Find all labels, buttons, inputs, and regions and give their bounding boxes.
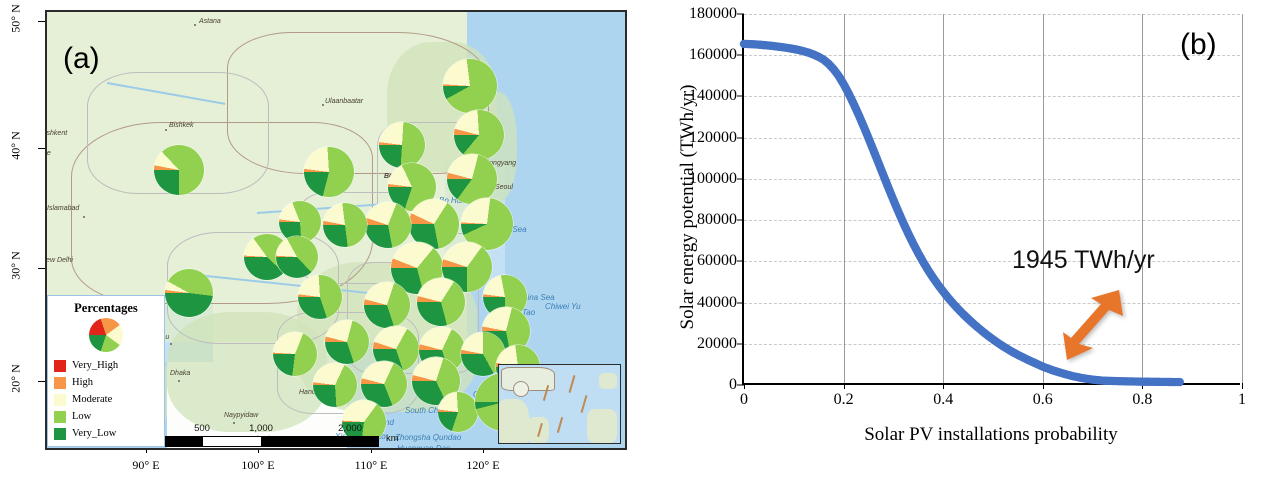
y-tick-label: 120000 <box>689 129 737 147</box>
city-label: Naypyidaw <box>224 412 258 419</box>
lon-tick-label: 120° E <box>453 458 513 473</box>
x-tick-label: 0.4 <box>933 391 953 409</box>
y-tick-mark <box>737 14 744 15</box>
scale-tick-label: 1,000 <box>249 423 273 434</box>
legend-label: Low <box>72 411 91 422</box>
pie-hongkong[interactable] <box>438 392 478 432</box>
legend-label: Very_High <box>72 360 118 371</box>
city-dot <box>83 216 85 218</box>
legend-swatch <box>54 360 66 372</box>
legend-label: Very_Low <box>72 428 116 439</box>
pie-jilin[interactable] <box>454 110 504 160</box>
legend-title: Percentages <box>54 301 158 316</box>
lon-tick-label: 100° E <box>228 458 288 473</box>
y-tick-label: 160000 <box>689 46 737 64</box>
lat-tick-label: 40° N <box>9 124 24 168</box>
scale-tick-label: 500 <box>194 423 210 434</box>
pie-shanxi[interactable] <box>365 202 411 248</box>
lat-tick-mark <box>38 21 45 22</box>
panel-a-map: 50° N 40° N 30° N 20° N 90° E 100° E 110… <box>0 0 632 492</box>
lon-tick-label: 90° E <box>116 458 176 473</box>
legend-items: Very_HighHighModerateLowVery_Low <box>54 357 158 442</box>
panel-a-letter: (a) <box>63 42 100 76</box>
pie-sichuan[interactable] <box>298 275 342 319</box>
pie-chongqing[interactable] <box>325 320 369 364</box>
y-tick-label: 140000 <box>689 87 737 105</box>
city-label: Astana <box>199 18 221 25</box>
y-tick-mark <box>737 55 744 56</box>
legend-swatch <box>54 377 66 389</box>
y-tick-mark <box>737 96 744 97</box>
annotation-label: 1945 TWh/yr <box>1012 246 1155 275</box>
panel-b-letter: (b) <box>1180 28 1217 62</box>
sea-label: Zhongsha Qundao <box>395 433 461 442</box>
lat-tick-mark <box>38 268 45 269</box>
x-tick-label: 0.2 <box>834 391 854 409</box>
legend-label: High <box>72 377 93 388</box>
scale-tick-label: 2,000 <box>338 423 362 434</box>
y-tick-mark <box>737 178 744 179</box>
city-label: Bishkek <box>169 122 194 129</box>
x-tick-mark <box>1242 383 1243 389</box>
y-tick-label: 0 <box>729 376 737 394</box>
legend-label: Moderate <box>72 394 112 405</box>
legend-item-high: High <box>54 374 158 391</box>
legend-pie-icon <box>89 318 123 352</box>
pie-xinjiang[interactable] <box>154 145 204 195</box>
city-label: Seoul <box>495 184 513 191</box>
y-tick-label: 100000 <box>689 170 737 188</box>
pie-xizang[interactable] <box>165 269 213 317</box>
panel-b-chart: Solar energy potential (TWh/yr) 02000040… <box>632 0 1269 492</box>
pie-guizhou[interactable] <box>313 363 357 407</box>
figure-root: 50° N 40° N 30° N 20° N 90° E 100° E 110… <box>0 0 1269 492</box>
orange-arrow-icon <box>1049 286 1127 366</box>
y-tick-label: 20000 <box>697 335 737 353</box>
x-tick-label: 0.8 <box>1132 391 1152 409</box>
scale-bar: 0 500 1,000 2,000 km <box>143 423 379 447</box>
city-dot <box>165 129 167 131</box>
x-tick-label: 0.6 <box>1033 391 1053 409</box>
legend-swatch <box>54 394 66 406</box>
pie-liaoning[interactable] <box>447 154 497 204</box>
scale-bar-graphic <box>143 436 379 447</box>
city-label: Islamabad <box>47 205 79 212</box>
pie-heilongjiang[interactable] <box>443 59 497 113</box>
legend-item-very_high: Very_High <box>54 357 158 374</box>
lat-tick-label: 20° N <box>9 357 24 401</box>
city-label: Dhaka <box>170 370 190 377</box>
city-label: New Delhi <box>45 257 73 264</box>
solar-potential-curve <box>744 14 1242 385</box>
legend-item-low: Low <box>54 408 158 425</box>
lat-tick-mark <box>38 148 45 149</box>
y-tick-mark <box>737 261 744 262</box>
plot-area[interactable]: 0200004000060000800001000001200001400001… <box>742 14 1240 385</box>
pie-hubei[interactable] <box>364 282 410 328</box>
lat-tick-mark <box>38 381 45 382</box>
sea-label: Chiwei Yu <box>545 302 581 311</box>
pie-neimenggu-e[interactable] <box>379 122 425 168</box>
pie-neimenggu-w[interactable] <box>304 147 354 197</box>
gridline-vertical <box>1242 14 1243 383</box>
city-dot <box>178 380 180 382</box>
y-tick-label: 40000 <box>697 294 737 312</box>
legend-item-very_low: Very_Low <box>54 425 158 442</box>
pie-shaanxi[interactable] <box>323 203 367 247</box>
pie-anhui[interactable] <box>417 278 465 326</box>
lon-tick-label: 110° E <box>341 458 401 473</box>
pie-yunnan[interactable] <box>273 332 317 376</box>
lat-tick-label: 30° N <box>9 244 24 288</box>
y-tick-mark <box>737 137 744 138</box>
city-label: Tashkent <box>45 130 67 137</box>
city-dot <box>194 24 196 26</box>
y-tick-mark <box>737 220 744 221</box>
city-dot <box>170 343 172 345</box>
y-tick-mark <box>737 385 744 386</box>
sea-label: Huangyan Dao <box>397 444 450 450</box>
y-tick-mark <box>737 343 744 344</box>
pie-gansu[interactable] <box>276 236 318 278</box>
x-tick-label: 0 <box>740 391 748 409</box>
x-axis-label: Solar PV installations probability <box>742 424 1240 446</box>
legend-swatch <box>54 411 66 423</box>
y-tick-label: 180000 <box>689 5 737 23</box>
lat-tick-label: 50° N <box>9 0 24 41</box>
scale-unit-label: km <box>386 433 399 444</box>
y-tick-label: 60000 <box>697 252 737 270</box>
map-legend: Percentages Very_HighHighModerateLowVery… <box>47 295 165 447</box>
city-label: Ulaanbaatar <box>325 98 363 105</box>
legend-item-moderate: Moderate <box>54 391 158 408</box>
y-tick-label: 80000 <box>697 211 737 229</box>
inset-map[interactable] <box>498 364 621 444</box>
city-dot <box>322 104 324 106</box>
y-tick-mark <box>737 302 744 303</box>
map-canvas[interactable]: Astana Bishkek Tashkent be Islamabad New… <box>45 10 627 450</box>
x-tick-label: 1 <box>1238 391 1246 409</box>
legend-swatch <box>54 428 66 440</box>
city-label: be <box>45 150 51 157</box>
